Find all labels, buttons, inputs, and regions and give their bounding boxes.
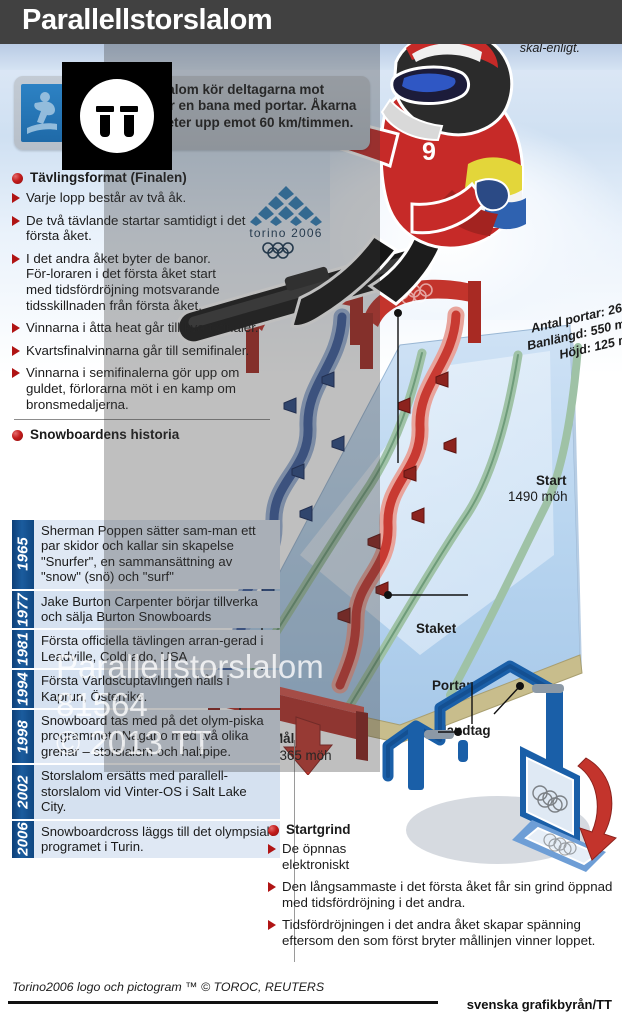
- format-bullet: De två tävlande startar samtidigt i det …: [12, 213, 280, 244]
- format-bullet: I det andra åket byter de banor. För-lor…: [12, 251, 280, 313]
- history-timeline: 1965 Sherman Poppen sätter sam-man ett p…: [12, 520, 280, 860]
- triangle-bullet-icon: [12, 368, 20, 378]
- timeline-text: Storslalom ersätts med parallell-storsla…: [34, 765, 280, 818]
- triangle-bullet-icon: [268, 920, 276, 930]
- timeline-row: 2002 Storslalom ersätts med parallell-st…: [12, 765, 280, 818]
- history-heading-row: Snowboardens historia: [12, 427, 280, 442]
- timeline-year: 1998: [12, 710, 34, 763]
- history-heading: Snowboardens historia: [30, 427, 179, 442]
- timeline-row: 2006 Snowboardcross läggs till det olymp…: [12, 821, 280, 859]
- format-bullet: Kvartsfinalvinnarna går till semifinaler…: [12, 343, 280, 359]
- finish-value: 1365 möh: [272, 748, 332, 763]
- format-bullet: Varje lopp består av två åk.: [12, 190, 280, 206]
- format-heading: Tävlingsformat (Finalen): [30, 170, 187, 185]
- format-bullet-text: Vinnarna i åtta heat går till kvartsfina…: [26, 320, 259, 336]
- page-title: Parallellstorslalom: [22, 4, 272, 37]
- format-bullet-text: Vinnarna i semifinalerna gör upp om guld…: [26, 365, 280, 412]
- start-value: 1490 möh: [508, 489, 568, 504]
- timeline-year: 2006: [12, 821, 34, 859]
- format-bullet-text: I det andra åket byter de banor. För-lor…: [26, 251, 222, 313]
- startgate-bullet-text: De öpnnas elektroniskt: [282, 841, 390, 872]
- startgate-bullet: Den långsammaste i det första åket får s…: [268, 879, 616, 910]
- section-divider: [14, 419, 270, 420]
- timeline-text: Sherman Poppen sätter sam-man ett par sk…: [34, 520, 280, 589]
- timeline-row: 1994 Första Världscuptävlingen hålls i K…: [12, 670, 280, 708]
- triangle-bullet-icon: [12, 193, 20, 203]
- footer: Torino2006 logo och pictogram ™ © TOROC,…: [0, 970, 622, 1024]
- red-dot-icon: [12, 430, 23, 441]
- snowboard-pictogram-icon: [21, 84, 63, 142]
- timeline-row: 1977 Jake Burton Carpenter börjar tillve…: [12, 591, 280, 629]
- triangle-bullet-icon: [12, 323, 20, 333]
- startgate-bullet: Tidsfördröjningen i det andra åket skapa…: [268, 917, 616, 948]
- timeline-text: Snowboard tas med på det olym-piska prog…: [34, 710, 280, 763]
- format-bullet: Vinnarna i semifinalerna gör upp om guld…: [12, 365, 280, 412]
- format-bullet: Vinnarna i åtta heat går till kvartsfina…: [12, 320, 280, 336]
- intro-panel: I parallellstorslalom kör deltagarna mot…: [14, 76, 370, 150]
- startgate-bullet: De öpnnas elektroniskt: [268, 841, 616, 872]
- timeline-year: 1977: [12, 591, 34, 629]
- timeline-text: Första officiella tävlingen arran-gerad …: [34, 630, 280, 668]
- infographic-page: Diagrammet är inte skal-enligt. Start 14…: [0, 0, 622, 1024]
- timeline-row: 1965 Sherman Poppen sätter sam-man ett p…: [12, 520, 280, 589]
- timeline-year: 1994: [12, 670, 34, 708]
- startgate-bullet-text: Den långsammaste i det första åket får s…: [282, 879, 616, 910]
- triangle-bullet-icon: [12, 216, 20, 226]
- timeline-year: 1981: [12, 630, 34, 668]
- intro-text: I parallellstorslalom kör deltagarna mot…: [72, 82, 364, 131]
- fence-label: Staket: [416, 621, 456, 636]
- format-bullet-text: Varje lopp består av två åk.: [26, 190, 186, 206]
- format-bullet-text: De två tävlande startar samtidigt i det …: [26, 213, 280, 244]
- timeline-text: Jake Burton Carpenter börjar tillverka o…: [34, 591, 280, 629]
- header-bar: Parallellstorslalom: [0, 0, 622, 44]
- triangle-bullet-icon: [12, 254, 20, 264]
- footer-agency: svenska grafikbyrån/TT: [467, 997, 612, 1012]
- red-dot-icon: [12, 173, 23, 184]
- start-label: Start: [536, 473, 567, 488]
- timeline-year: 2002: [12, 765, 34, 818]
- footer-rule: [8, 1001, 438, 1004]
- footer-credit: Torino2006 logo och pictogram ™ © TOROC,…: [12, 980, 324, 994]
- format-heading-row: Tävlingsformat (Finalen): [12, 170, 280, 185]
- startgate-heading-row: Startgrind: [268, 822, 616, 837]
- startgate-column: Startgrind De öpnnas elektroniskt Den lå…: [268, 822, 616, 956]
- triangle-bullet-icon: [12, 346, 20, 356]
- timeline-row: 1998 Snowboard tas med på det olym-piska…: [12, 710, 280, 763]
- timeline-text: Snowboardcross läggs till det olympsiak …: [34, 821, 280, 859]
- timeline-row: 1981 Första officiella tävlingen arran-g…: [12, 630, 280, 668]
- triangle-bullet-icon: [268, 844, 276, 854]
- startgate-heading: Startgrind: [286, 822, 351, 837]
- red-dot-icon: [268, 825, 279, 836]
- triangle-bullet-icon: [268, 882, 276, 892]
- left-column: Tävlingsformat (Finalen) Varje lopp best…: [12, 170, 280, 447]
- timeline-text: Första Världscuptävlingen hålls i Kaprun…: [34, 670, 280, 708]
- format-bullet-text: Kvartsfinalvinnarna går till semifinaler…: [26, 343, 249, 359]
- timeline-year: 1965: [12, 520, 34, 589]
- bib-number: 9: [422, 138, 436, 166]
- startgate-bullet-text: Tidsfördröjningen i det andra åket skapa…: [282, 917, 616, 948]
